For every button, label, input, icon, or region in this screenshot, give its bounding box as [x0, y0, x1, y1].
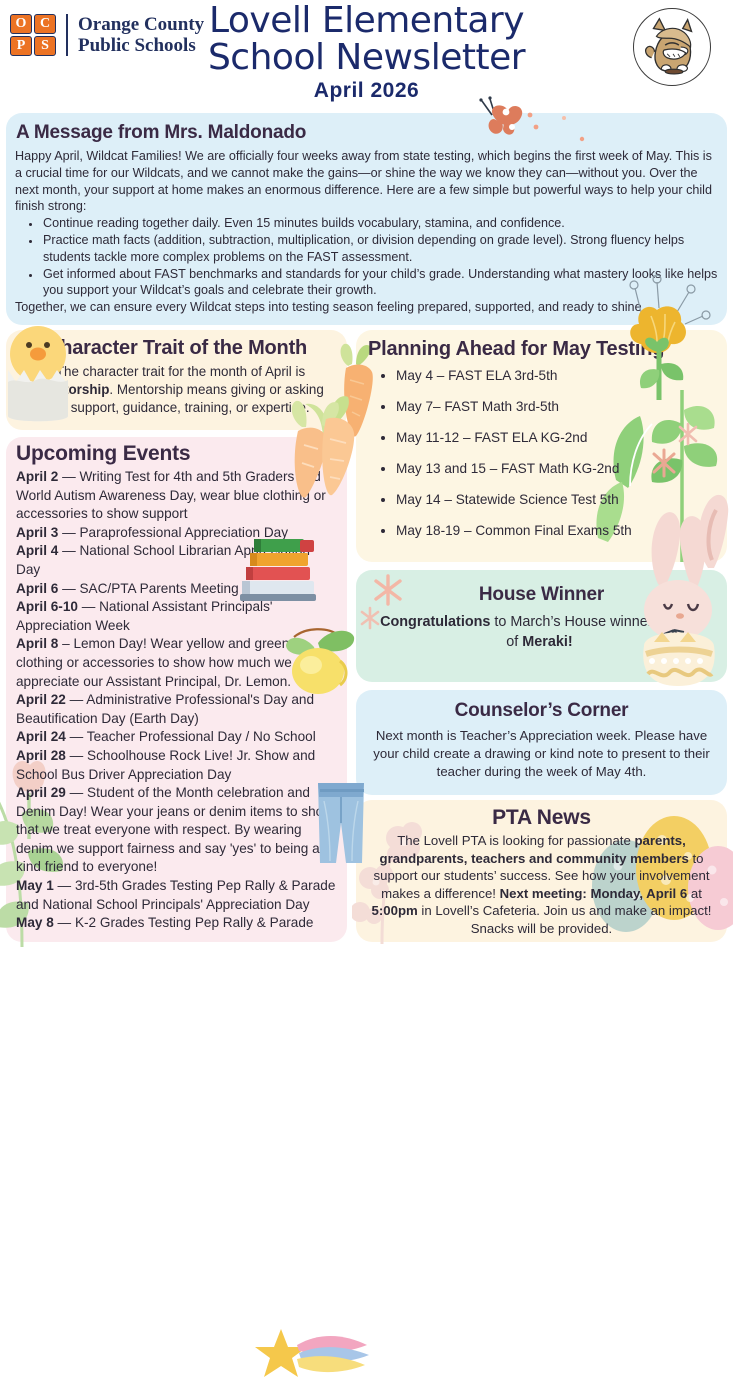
planning-heading: Planning Ahead for May Testing: [356, 330, 727, 363]
ocps-logo: O C P S Orange County Public Schools: [10, 14, 204, 56]
events-list: April 2 — Writing Test for 4th and 5th G…: [6, 468, 347, 933]
house-winner-card: House Winner Congratulations to March’s …: [356, 570, 727, 682]
event-text: Teacher Professional Day / No School: [87, 729, 316, 744]
trait-lead: The character trait for the month of Apr…: [56, 364, 305, 379]
event-date: April 29: [16, 785, 66, 800]
counselor-body: Next month is Teacher’s Appreciation wee…: [356, 722, 727, 781]
character-trait-heading: Character Trait of the Month: [6, 330, 347, 360]
logo-letter-o: O: [10, 14, 32, 34]
event-date: April 2: [16, 469, 58, 484]
planning-ahead-card: Planning Ahead for May Testing May 4 – F…: [356, 330, 727, 562]
event-text: Paraprofessional Appreciation Day: [79, 525, 288, 540]
newsletter-page: O C P S Orange County Public Schools Lov…: [0, 0, 733, 948]
message-intro: Happy April, Wildcat Families! We are of…: [15, 148, 718, 215]
pta-heading: PTA News: [356, 800, 727, 830]
planning-item: May 13 and 15 – FAST Math KG-2nd: [396, 460, 727, 477]
message-bullet: Continue reading together daily. Even 15…: [41, 215, 718, 232]
upcoming-events-card: Upcoming Events April 2 — Writing Test f…: [6, 437, 347, 942]
planning-item: May 4 – FAST ELA 3rd-5th: [396, 367, 727, 384]
event-date: April 8: [16, 636, 58, 651]
issue-date: April 2026: [0, 79, 733, 103]
event-date: April 6-10: [16, 599, 78, 614]
events-heading: Upcoming Events: [6, 437, 347, 468]
logo-letter-c: C: [34, 14, 56, 34]
trait-name: Mentorship: [37, 382, 109, 397]
event-date: April 3: [16, 525, 58, 540]
planning-item: May 14 – Statewide Science Test 5th: [396, 491, 727, 508]
event-text: K-2 Grades Testing Pep Rally & Parade: [75, 915, 314, 930]
counselors-corner-card: Counselor’s Corner Next month is Teacher…: [356, 690, 727, 795]
planning-item: May 18-19 – Common Final Exams 5th: [396, 522, 727, 539]
event-date: April 6: [16, 581, 58, 596]
pta-next-meeting: Next meeting: Monday, April 6: [500, 886, 688, 901]
character-trait-body: The character trait for the month of Apr…: [6, 360, 347, 417]
pta-body: The Lovell PTA is looking for passionate…: [356, 830, 727, 938]
house-winner-heading: House Winner: [356, 570, 727, 606]
planning-item: May 11-12 – FAST ELA KG-2nd: [396, 429, 727, 446]
house-winner-body: Congratulations to March’s House winner,…: [356, 606, 727, 652]
message-bullet: Practice math facts (addition, subtracti…: [41, 232, 718, 266]
wildcat-mascot-icon: [633, 8, 711, 86]
house-congrats: Congratulations: [380, 614, 490, 630]
ocps-logo-line2: Public Schools: [78, 35, 204, 56]
message-bullet-list: Continue reading together daily. Even 15…: [41, 215, 718, 299]
logo-letter-p: P: [10, 36, 32, 56]
event-date: April 28: [16, 748, 66, 763]
planning-list: May 4 – FAST ELA 3rd-5th May 7– FAST Mat…: [396, 367, 727, 539]
character-trait-card: Character Trait of the Month The charact…: [6, 330, 347, 430]
message-closing: Together, we can ensure every Wildcat st…: [15, 299, 718, 316]
star-ribbon-icon: [251, 1325, 371, 1385]
pta-meeting-time: 5:00pm: [372, 903, 418, 918]
message-bullet: Get informed about FAST benchmarks and s…: [41, 266, 718, 300]
event-date: May 1: [16, 878, 54, 893]
newsletter-header: O C P S Orange County Public Schools Lov…: [0, 0, 733, 110]
ocps-logo-text: Orange County Public Schools: [78, 14, 204, 56]
event-text: SAC/PTA Parents Meeting: [79, 581, 238, 596]
counselor-heading: Counselor’s Corner: [356, 690, 727, 722]
logo-letter-s: S: [34, 36, 56, 56]
principal-message-card: A Message from Mrs. Maldonado Happy Apri…: [6, 113, 727, 325]
house-name: Meraki!: [522, 634, 572, 650]
pta-news-card: PTA News The Lovell PTA is looking for p…: [356, 800, 727, 942]
event-date: April 22: [16, 692, 66, 707]
logo-divider: [66, 14, 68, 56]
ocps-logo-squares: O C P S: [10, 14, 56, 56]
planning-item: May 7– FAST Math 3rd-5th: [396, 398, 727, 415]
event-date: April 24: [16, 729, 66, 744]
event-date: April 4: [16, 543, 58, 558]
message-body: Happy April, Wildcat Families! We are of…: [6, 148, 727, 299]
event-date: May 8: [16, 915, 54, 930]
ocps-logo-line1: Orange County: [78, 14, 204, 35]
message-heading: A Message from Mrs. Maldonado: [6, 113, 727, 148]
